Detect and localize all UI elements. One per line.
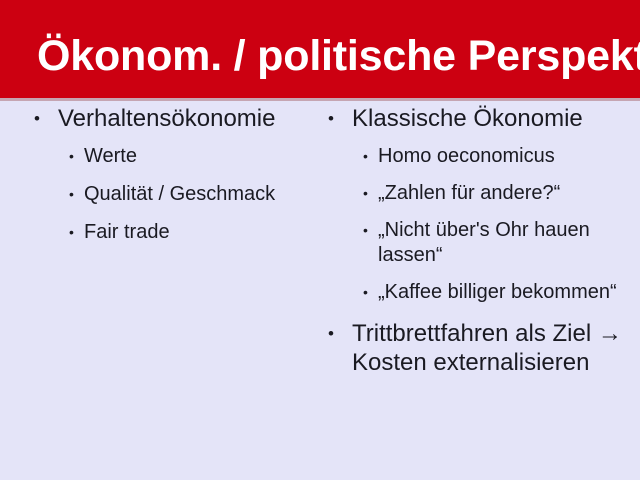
bullet-left-item-3: • Fair trade: [34, 220, 334, 245]
bullet-right-item-4: • „Kaffee billiger bekommen“: [328, 280, 628, 305]
bullet-left-heading: • Verhaltensökonomie: [34, 104, 334, 133]
bullet-text: Verhaltensökonomie: [58, 104, 334, 133]
bullet-text: Klassische Ökonomie: [352, 104, 628, 133]
bullet-right-closing: • Trittbrettfahren als Ziel → Kosten ext…: [328, 319, 628, 377]
bullet-dot-icon: •: [69, 220, 74, 245]
bullet-dot-icon: •: [363, 181, 368, 206]
bullet-text: „Zahlen für andere?“: [378, 181, 628, 206]
bullet-right-item-1: • Homo oeconomicus: [328, 144, 628, 169]
bullet-right-item-3: • „Nicht über's Ohr hauen lassen“: [328, 218, 628, 268]
bullet-dot-icon: •: [69, 144, 74, 169]
bullet-text: Homo oeconomicus: [378, 144, 628, 169]
bullet-dot-icon: •: [363, 218, 368, 243]
bullet-dot-icon: •: [328, 104, 334, 133]
content-column-left: • Verhaltensökonomie • Werte • Qualität …: [34, 104, 334, 258]
banner-bottom-edge: [0, 98, 640, 101]
slide-title: Ökonom. / politische Perspektive: [37, 31, 627, 81]
bullet-text: Trittbrettfahren als Ziel → Kosten exter…: [352, 319, 628, 377]
bullet-dot-icon: •: [69, 182, 74, 207]
bullet-text: „Nicht über's Ohr hauen lassen“: [378, 218, 628, 268]
bullet-left-item-2: • Qualität / Geschmack: [34, 182, 334, 207]
slide-content: • Verhaltensökonomie • Werte • Qualität …: [0, 104, 640, 480]
content-column-right: • Klassische Ökonomie • Homo oeconomicus…: [328, 104, 628, 381]
bullet-text: „Kaffee billiger bekommen“: [378, 280, 628, 305]
bullet-text: Qualität / Geschmack: [84, 182, 334, 207]
bullet-text: Werte: [84, 144, 334, 169]
bullet-right-item-2: • „Zahlen für andere?“: [328, 181, 628, 206]
bullet-dot-icon: •: [328, 319, 334, 348]
bullet-right-heading: • Klassische Ökonomie: [328, 104, 628, 133]
bullet-left-item-1: • Werte: [34, 144, 334, 169]
presentation-slide: Ökonom. / politische Perspektive • Verha…: [0, 0, 640, 480]
bullet-dot-icon: •: [34, 104, 40, 133]
slide-title-banner: Ökonom. / politische Perspektive: [0, 0, 640, 98]
bullet-text: Fair trade: [84, 220, 334, 245]
bullet-dot-icon: •: [363, 280, 368, 305]
bullet-dot-icon: •: [363, 144, 368, 169]
